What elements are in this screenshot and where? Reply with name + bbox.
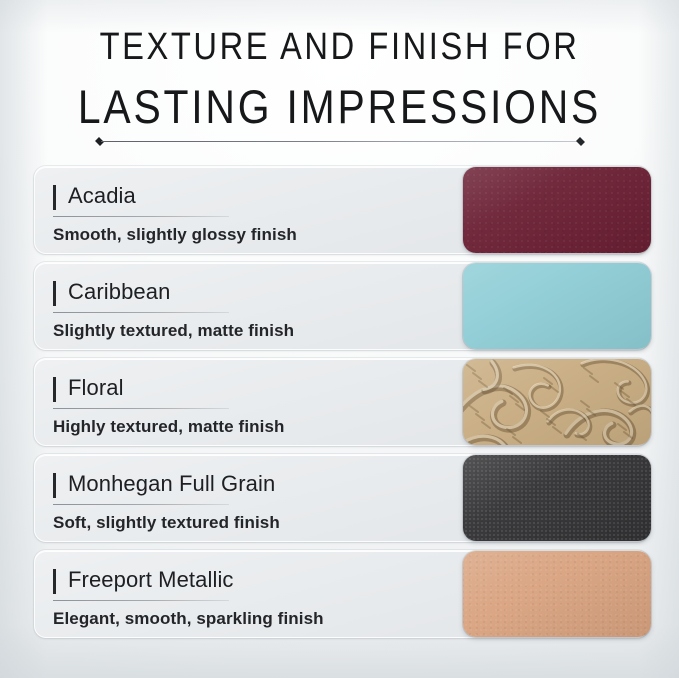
page-title-line-2: LASTING IMPRESSIONS [44, 66, 635, 130]
finish-row-acadia[interactable]: Acadia Smooth, slightly glossy finish [0, 166, 679, 254]
finish-description: Highly textured, matte finish [53, 416, 285, 438]
title-underline [53, 504, 229, 505]
finish-name: Acadia [68, 183, 136, 209]
floral-swatch[interactable] [463, 359, 651, 445]
finish-description: Soft, slightly textured finish [53, 512, 280, 534]
finish-name: Freeport Metallic [68, 567, 234, 593]
finish-row-caribbean[interactable]: Caribbean Slightly textured, matte finis… [0, 262, 679, 350]
swatch-sheen [463, 551, 651, 637]
swatch-sheen [463, 455, 651, 541]
title-underline [53, 216, 229, 217]
swatch-sheen [463, 263, 651, 349]
title-underline [53, 600, 229, 601]
finish-name: Monhegan Full Grain [68, 471, 275, 497]
infographic-canvas: TEXTURE AND FINISH FOR LASTING IMPRESSIO… [0, 0, 679, 678]
title-underline [53, 312, 229, 313]
finish-row-monhegan-full-grain[interactable]: Monhegan Full Grain Soft, slightly textu… [0, 454, 679, 542]
page-title-line-1: TEXTURE AND FINISH FOR [48, 0, 632, 66]
finish-list: Acadia Smooth, slightly glossy finish Ca… [0, 166, 679, 646]
divider-rule [101, 141, 579, 142]
diamond-icon-right [576, 137, 585, 146]
freeport-metallic-swatch[interactable] [463, 551, 651, 637]
swatch-sheen [463, 167, 651, 253]
ornamental-divider [95, 137, 585, 146]
title-underline [53, 408, 229, 409]
accent-bar-icon [53, 377, 56, 402]
finish-row-floral[interactable]: Floral Highly textured, matte finish [0, 358, 679, 446]
accent-bar-icon [53, 281, 56, 306]
caribbean-swatch[interactable] [463, 263, 651, 349]
accent-bar-icon [53, 569, 56, 594]
acadia-swatch[interactable] [463, 167, 651, 253]
finish-name: Caribbean [68, 279, 170, 305]
header: TEXTURE AND FINISH FOR LASTING IMPRESSIO… [0, 0, 679, 130]
accent-bar-icon [53, 185, 56, 210]
finish-name: Floral [68, 375, 124, 401]
monhegan-full-grain-swatch[interactable] [463, 455, 651, 541]
finish-row-freeport-metallic[interactable]: Freeport Metallic Elegant, smooth, spark… [0, 550, 679, 638]
finish-description: Slightly textured, matte finish [53, 320, 294, 342]
finish-description: Smooth, slightly glossy finish [53, 224, 297, 246]
swatch-sheen [463, 359, 651, 445]
finish-description: Elegant, smooth, sparkling finish [53, 608, 324, 630]
accent-bar-icon [53, 473, 56, 498]
